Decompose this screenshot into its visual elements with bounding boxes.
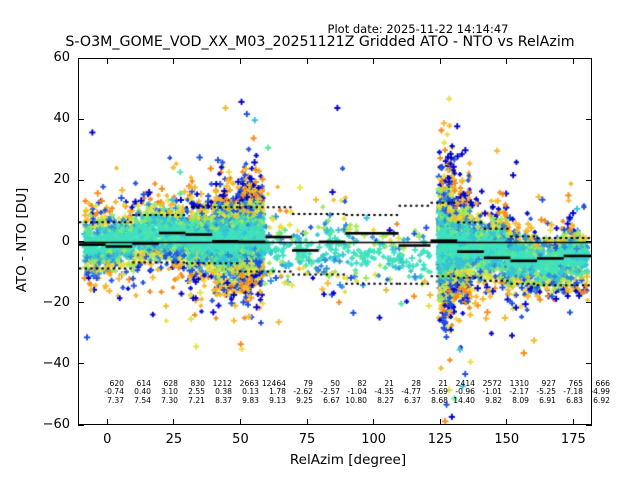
y-axis-label: ATO - NTO [DU] — [14, 150, 30, 330]
y-tick-mark — [586, 363, 592, 364]
plot-figure: Plot date: 2025-11-22 14:14:47 S-O3M_GOM… — [0, 0, 640, 480]
x-tick-mark — [307, 419, 308, 425]
x-tick-mark — [440, 58, 441, 64]
stat-column: 666-4.996.92 — [564, 380, 610, 405]
x-tick-mark — [173, 419, 174, 425]
x-tick-label: 175 — [543, 433, 603, 446]
x-tick-mark — [107, 58, 108, 64]
y-tick-mark — [586, 180, 592, 181]
x-tick-mark — [506, 419, 507, 425]
x-tick-label: 25 — [144, 433, 204, 446]
y-tick-mark — [586, 58, 592, 59]
x-tick-mark — [373, 58, 374, 64]
x-tick-mark — [440, 419, 441, 425]
x-tick-label: 125 — [410, 433, 470, 446]
x-tick-mark — [240, 58, 241, 64]
x-tick-mark — [506, 58, 507, 64]
plot-axes-frame — [78, 58, 592, 425]
y-tick-mark — [586, 302, 592, 303]
y-tick-mark — [78, 363, 84, 364]
x-tick-mark — [573, 419, 574, 425]
y-tick-mark — [586, 119, 592, 120]
x-tick-mark — [307, 58, 308, 64]
x-tick-label: 50 — [210, 433, 270, 446]
plot-title: S-O3M_GOME_VOD_XX_M03_20251121Z Gridded … — [0, 34, 640, 50]
y-tick-mark — [78, 119, 84, 120]
scatter-canvas — [79, 59, 592, 425]
x-tick-mark — [107, 419, 108, 425]
y-tick-label: −40 — [10, 357, 70, 370]
x-axis-label: RelAzim [degree] — [0, 452, 640, 468]
x-tick-mark — [573, 58, 574, 64]
x-tick-label: 150 — [477, 433, 537, 446]
y-tick-label: 40 — [10, 112, 70, 125]
y-tick-mark — [78, 302, 84, 303]
y-tick-mark — [586, 241, 592, 242]
y-tick-mark — [78, 241, 84, 242]
x-tick-label: 100 — [344, 433, 404, 446]
y-tick-mark — [586, 425, 592, 426]
x-tick-mark — [173, 58, 174, 64]
y-tick-mark — [78, 180, 84, 181]
stat-spread: 6.92 — [564, 397, 610, 405]
x-tick-label: 75 — [277, 433, 337, 446]
x-tick-mark — [373, 419, 374, 425]
x-tick-mark — [240, 419, 241, 425]
y-tick-label: −60 — [10, 418, 70, 431]
bin-statistics-table: 620-0.747.376140.407.546283.107.308302.5… — [78, 380, 592, 410]
y-tick-label: 60 — [10, 51, 70, 64]
y-tick-mark — [78, 425, 84, 426]
x-tick-label: 0 — [77, 433, 137, 446]
y-tick-mark — [78, 58, 84, 59]
